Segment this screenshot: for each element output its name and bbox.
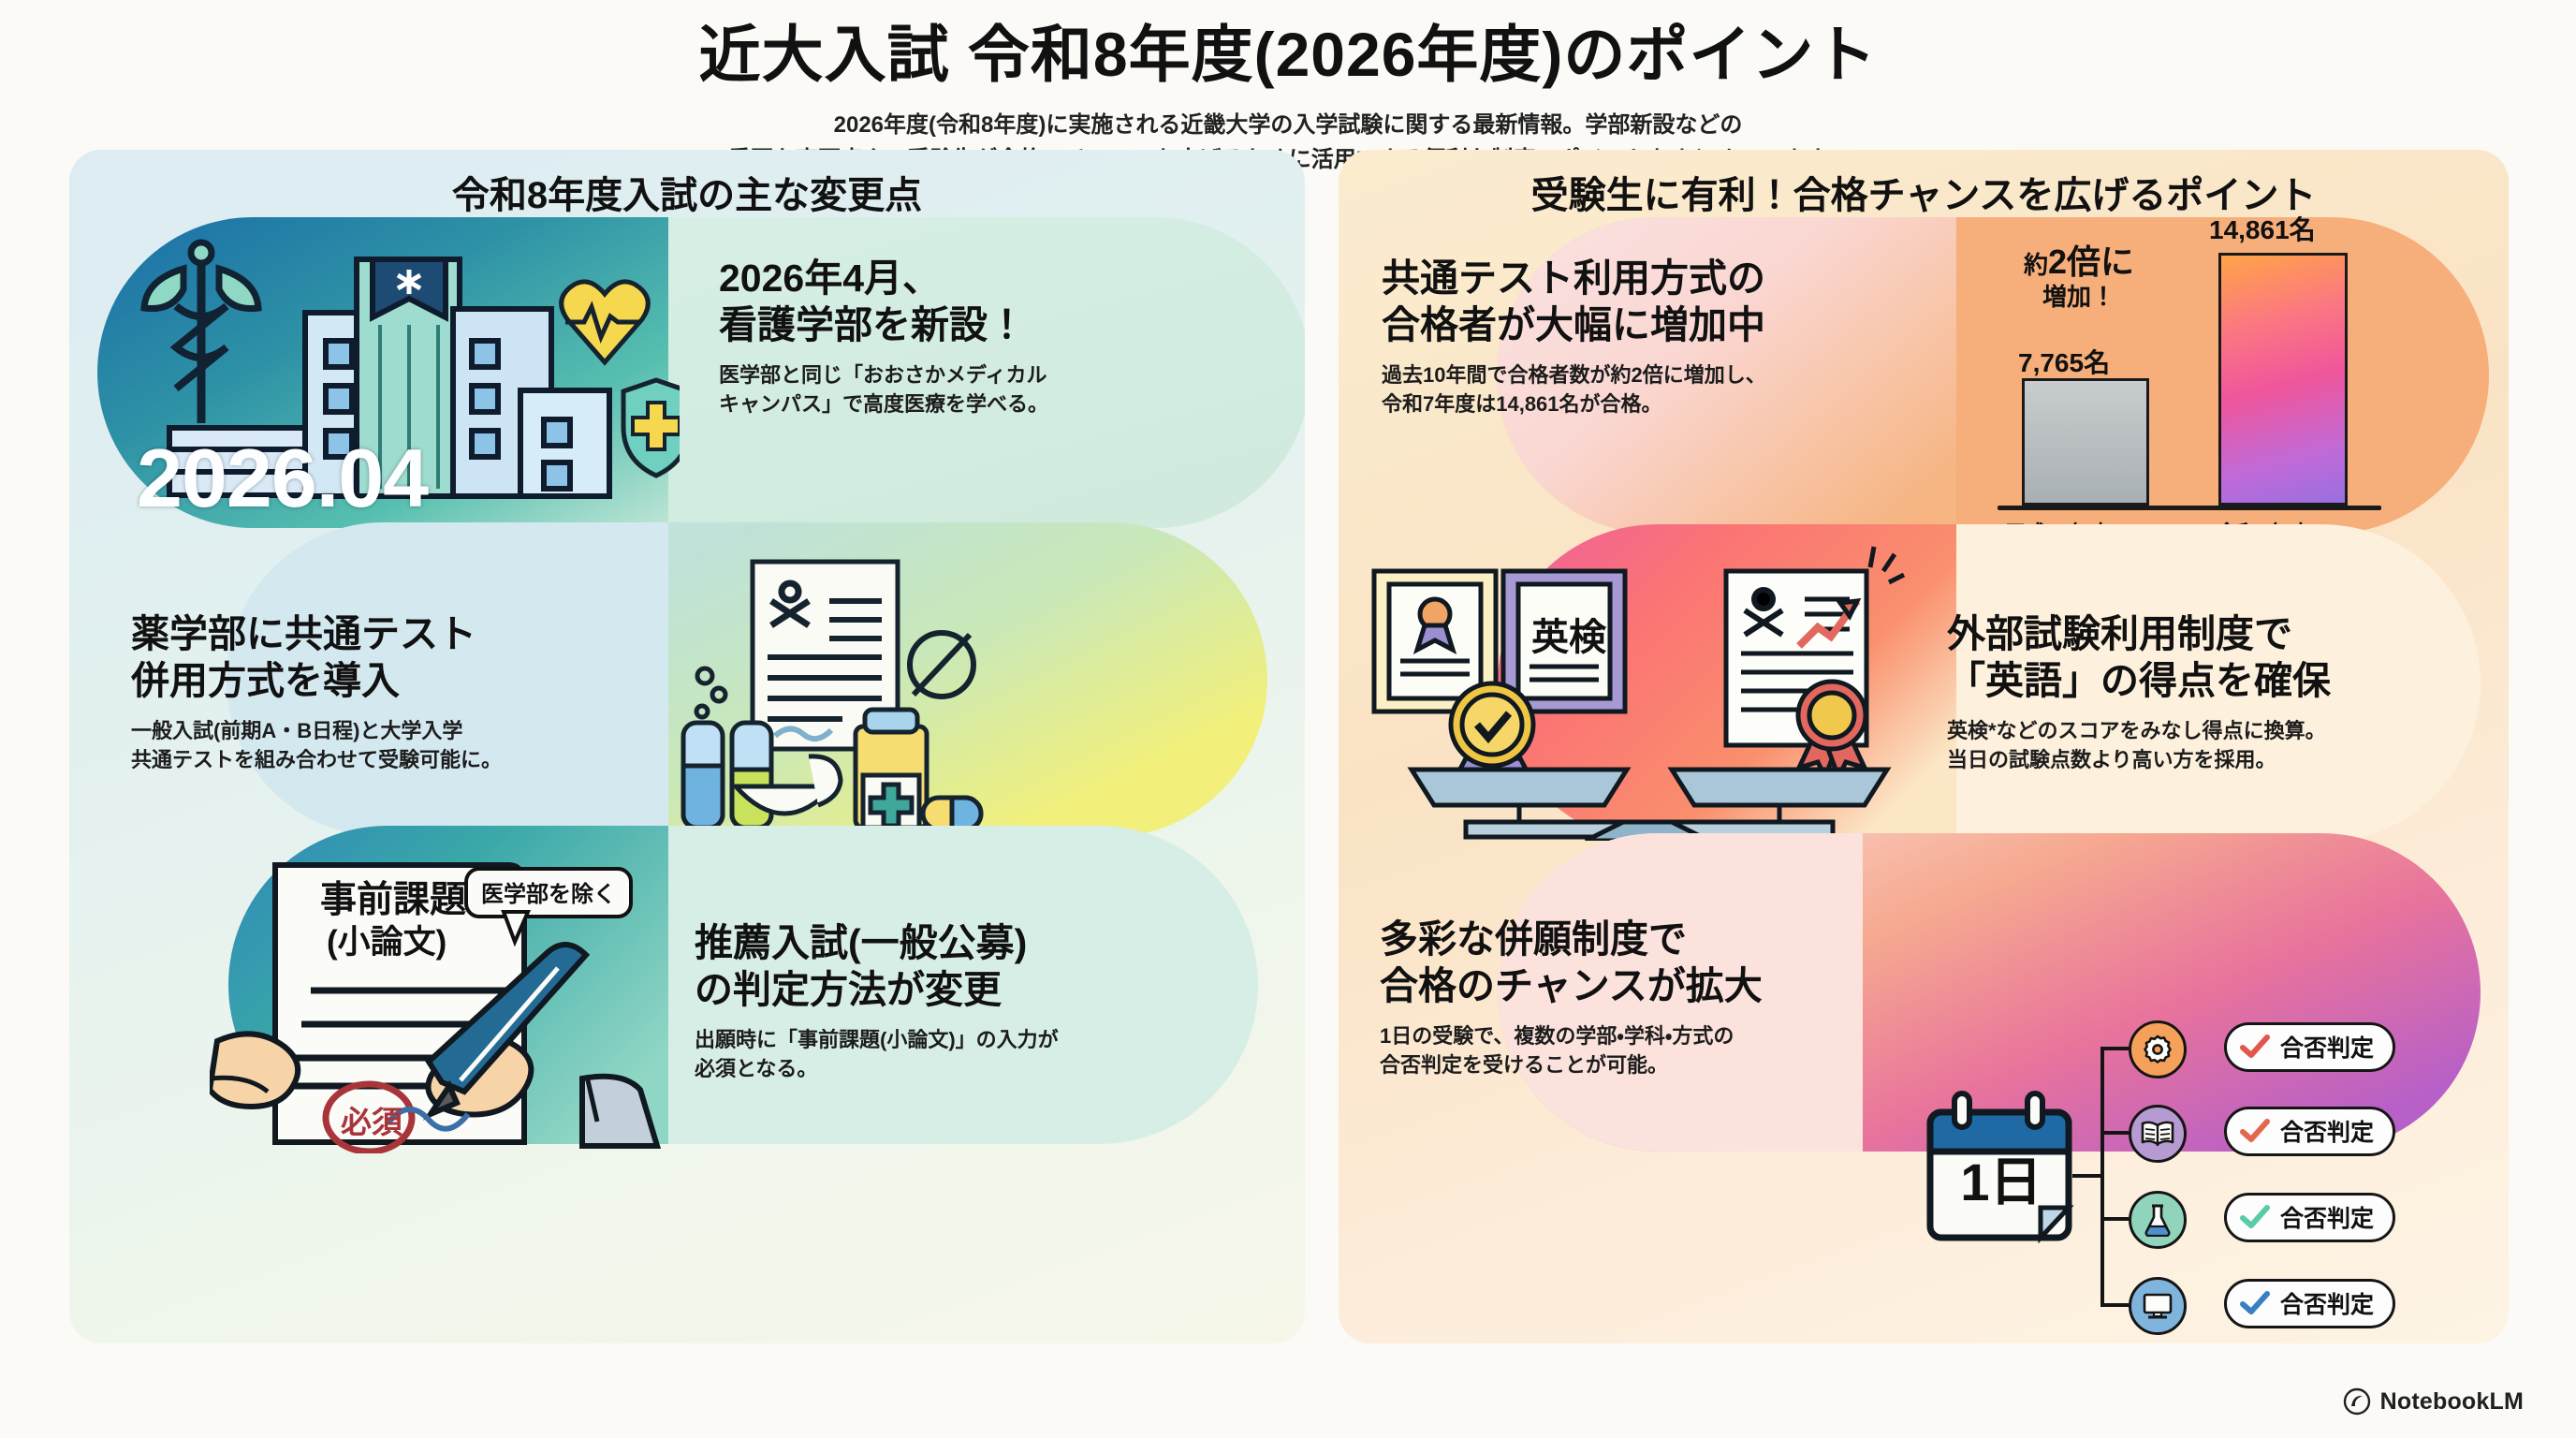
left-card-3-text: 推薦入試(一般公募) の判定方法が変更 出願時に「事前課題(小論文)」の入力が … (695, 919, 1275, 1084)
right-card-1-title-line-2: 合格者が大幅に増加中 (1382, 301, 1962, 348)
infographic-page: 近大入試 令和8年度(2026年度)のポイント 2026年度(令和8年度)に実施… (0, 0, 2576, 1438)
left-card-3-title-line-2: の判定方法が変更 (695, 966, 1275, 1013)
connector-branch-1 (2100, 1131, 2129, 1135)
connector-stub-main (2072, 1174, 2104, 1178)
right-card-3-title-line-2: 合格のチャンスが拡大 (1380, 962, 1941, 1009)
bar-1 (2218, 253, 2348, 506)
judgement-badge-label-1: 合否判定 (2280, 1114, 2374, 1148)
bar-0 (2022, 378, 2149, 506)
connector-branch-2 (2100, 1217, 2129, 1221)
bar-value-0: 7,765名 (2018, 343, 2110, 380)
gear-icon-circle (2129, 1020, 2187, 1078)
left-card-3-body: 出願時に「事前課題(小論文)」の入力が 必須となる。 (695, 1025, 1275, 1083)
check-icon (2240, 1291, 2270, 1315)
left-card-1-body: 医学部と同じ「おおさかメディカル キャンパス」で高度医療を学べる。 (719, 360, 1281, 418)
essay-exception-bubble: 医学部を除く (464, 867, 633, 918)
check-icon (2240, 1205, 2270, 1229)
left-card-2-title-line-2: 併用方式を導入 (131, 657, 711, 704)
no-symbol-icon (910, 633, 973, 697)
left-card-3-title-line-1: 推薦入試(一般公募) (695, 919, 1275, 966)
notebooklm-logo-icon (2343, 1387, 2371, 1416)
heart-icon (562, 282, 649, 362)
bar-value-1: 14,861名 (2209, 210, 2316, 247)
connector-branch-3 (2100, 1303, 2129, 1307)
left-card-2-body-line-1: 一般入試(前期A・B日程)と大学入学 (131, 716, 711, 745)
right-card-3-body-line-2: 合否判定を受けることが可能。 (1380, 1050, 1941, 1079)
chart-baseline-axis (1998, 506, 2381, 510)
left-card-1-title-line-2: 看護学部を新設！ (719, 301, 1281, 348)
connector-branch-0 (2100, 1047, 2129, 1050)
right-card-2-title-line-2: 「英語」の得点を確保 (1947, 657, 2499, 704)
subtitle-line-1: 2026年度(令和8年度)に実施される近畿大学の入学試験に関する最新情報。学部新… (0, 108, 2576, 142)
left-card-3-body-line-1: 出願時に「事前課題(小論文)」の入力が (695, 1025, 1275, 1054)
right-card-3-title: 多彩な併願制度で 合格のチャンスが拡大 (1380, 916, 1941, 1009)
check-icon (2240, 1119, 2270, 1143)
hospital-date-label: 2026.04 (137, 431, 428, 526)
chart-plot-area: 7,765名 平成28年度 14,861名 令和7年度 (1984, 208, 2481, 545)
check-icon (2240, 1034, 2270, 1059)
left-card-3-title: 推薦入試(一般公募) の判定方法が変更 (695, 919, 1275, 1013)
monitor-icon (2142, 1292, 2173, 1320)
right-card-2-title: 外部試験利用制度で 「英語」の得点を確保 (1947, 610, 2499, 704)
book-icon (2141, 1120, 2174, 1148)
flask-icon-circle (2129, 1191, 2187, 1249)
right-panel: 受験生に有利！合格チャンスを広げるポイント 共通テスト利用方式の 合格者が大幅に… (1339, 150, 2509, 1343)
essay-paper-line-2: (小論文) (327, 916, 446, 963)
right-card-1-body-line-1: 過去10年間で合格者数が約2倍に増加し、 (1382, 360, 1962, 389)
gear-icon (2142, 1034, 2173, 1065)
caduceus-icon (144, 242, 258, 423)
right-card-2-body-line-2: 当日の試験点数より高い方を採用。 (1947, 745, 2499, 774)
page-title: 近大入試 令和8年度(2026年度)のポイント (0, 21, 2576, 89)
judgement-badge-2: 合否判定 (2224, 1193, 2395, 1242)
judgement-badge-1: 合否判定 (2224, 1107, 2395, 1156)
right-card-1-text: 共通テスト利用方式の 合格者が大幅に増加中 過去10年間で合格者数が約2倍に増加… (1382, 255, 1962, 419)
left-card-3-body-line-2: 必須となる。 (695, 1054, 1275, 1083)
right-card-2-body: 英検*などのスコアをみなし得点に換算。 当日の試験点数より高い方を採用。 (1947, 716, 2499, 774)
left-card-2-title-line-1: 薬学部に共通テスト (131, 610, 711, 657)
right-card-3-body-line-1: 1日の受験で、複数の学部・学科・方式の (1380, 1021, 1941, 1050)
shield-icon (623, 380, 680, 476)
left-card-1-title: 2026年4月、 看護学部を新設！ (719, 255, 1281, 348)
book-icon-circle (2129, 1105, 2187, 1163)
left-panel: 令和8年度入試の主な変更点 (69, 150, 1305, 1343)
left-card-2-text: 薬学部に共通テスト 併用方式を導入 一般入試(前期A・B日程)と大学入学 共通テ… (131, 610, 711, 775)
calendar-day-label: 1日 (1917, 1140, 2086, 1216)
footer-brand: NotebookLM (2343, 1387, 2524, 1416)
judgement-badge-label-2: 合否判定 (2280, 1200, 2374, 1234)
flask-icon (2144, 1203, 2172, 1237)
right-card-1-body-line-2: 令和7年度は14,861名が合格。 (1382, 389, 1962, 418)
balance-scale-illustration (1354, 541, 1934, 841)
left-panel-heading: 令和8年度入試の主な変更点 (69, 165, 1305, 219)
left-card-1-title-line-1: 2026年4月、 (719, 255, 1281, 301)
left-card-2-body-line-2: 共通テストを組み合わせて受験可能に。 (131, 745, 711, 774)
right-card-1-body: 過去10年間で合格者数が約2倍に増加し、 令和7年度は14,861名が合格。 (1382, 360, 1962, 418)
right-card-2-title-line-1: 外部試験利用制度で (1947, 610, 2499, 657)
right-card-3-title-line-1: 多彩な併願制度で (1380, 916, 1941, 962)
monitor-icon-circle (2129, 1277, 2187, 1335)
pharmacy-illustration (678, 552, 987, 833)
right-card-1-title: 共通テスト利用方式の 合格者が大幅に増加中 (1382, 255, 1962, 348)
judgement-badge-label-0: 合否判定 (2280, 1030, 2374, 1064)
left-card-1-text: 2026年4月、 看護学部を新設！ 医学部と同じ「おおさかメディカル キャンパス… (719, 255, 1281, 419)
eiken-label: 英検 (1531, 607, 1606, 661)
bubble-tail-icon (500, 910, 547, 947)
essay-required-stamp: 必須 (341, 1097, 402, 1142)
right-card-3-body: 1日の受験で、複数の学部・学科・方式の 合否判定を受けることが可能。 (1380, 1021, 1941, 1079)
left-card-1-body-line-1: 医学部と同じ「おおさかメディカル (719, 360, 1281, 389)
judgement-badge-label-3: 合否判定 (2280, 1286, 2374, 1320)
acceptance-bar-chart: 約2倍に 増加！ 7,765名 平成28年度 14,861名 令和7年度 (1984, 208, 2481, 545)
footer-brand-label: NotebookLM (2380, 1388, 2524, 1416)
left-card-1-body-line-2: キャンパス」で高度医療を学べる。 (719, 389, 1281, 418)
right-card-3-text: 多彩な併願制度で 合格のチャンスが拡大 1日の受験で、複数の学部・学科・方式の … (1380, 916, 1941, 1080)
right-card-2-text: 外部試験利用制度で 「英語」の得点を確保 英検*などのスコアをみなし得点に換算。… (1947, 610, 2499, 775)
left-card-2-body: 一般入試(前期A・B日程)と大学入学 共通テストを組み合わせて受験可能に。 (131, 716, 711, 774)
left-card-2-title: 薬学部に共通テスト 併用方式を導入 (131, 610, 711, 704)
right-card-2-body-line-1: 英検*などのスコアをみなし得点に換算。 (1947, 716, 2499, 745)
right-card-1-title-line-1: 共通テスト利用方式の (1382, 255, 1962, 301)
judgement-badge-3: 合否判定 (2224, 1279, 2395, 1328)
judgement-badge-0: 合否判定 (2224, 1022, 2395, 1072)
